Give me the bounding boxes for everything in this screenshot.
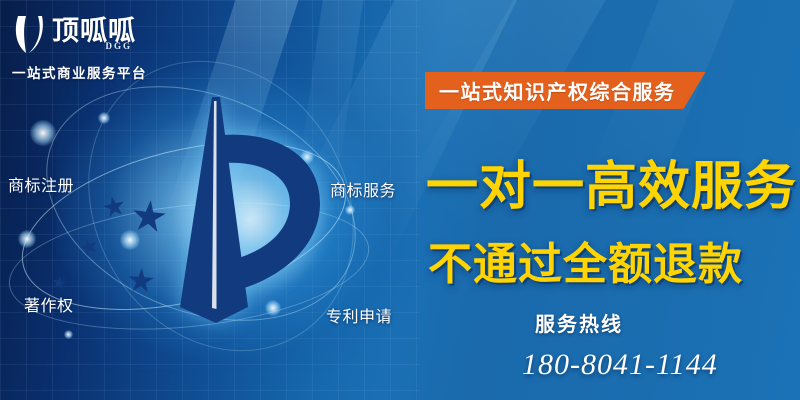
- brand-logo[interactable]: 顶呱呱 DGG 一站式商业服务平台: [12, 12, 172, 82]
- ribbon-label: 一站式知识产权综合服务: [439, 76, 676, 105]
- headline-primary: 一对一高效服务: [426, 144, 797, 219]
- ip-letter-p-monument-icon: [150, 95, 325, 325]
- ribbon-badge: 一站式知识产权综合服务: [425, 72, 706, 109]
- promo-content: 一站式知识产权综合服务 一对一高效服务 不通过全额退款 服务热线 180-804…: [410, 0, 800, 400]
- hotline-number[interactable]: 180-8041-1144: [522, 348, 718, 382]
- headline-secondary: 不通过全额退款: [428, 228, 743, 292]
- logo-tagline: 一站式商业服务平台: [12, 62, 172, 82]
- feature-label-trademark-service: 商标服务: [330, 177, 396, 201]
- promo-banner: 顶呱呱 DGG 一站式商业服务平台 商标注册 商标服务 著作权 专利申请 一站式…: [0, 0, 800, 400]
- hotline-label: 服务热线: [535, 308, 623, 337]
- feature-label-copyright: 著作权: [24, 292, 74, 316]
- feature-label-patent-application: 专利申请: [326, 303, 392, 327]
- dgg-leaf-mark-icon: [12, 13, 48, 55]
- feature-label-trademark-registration: 商标注册: [8, 172, 74, 196]
